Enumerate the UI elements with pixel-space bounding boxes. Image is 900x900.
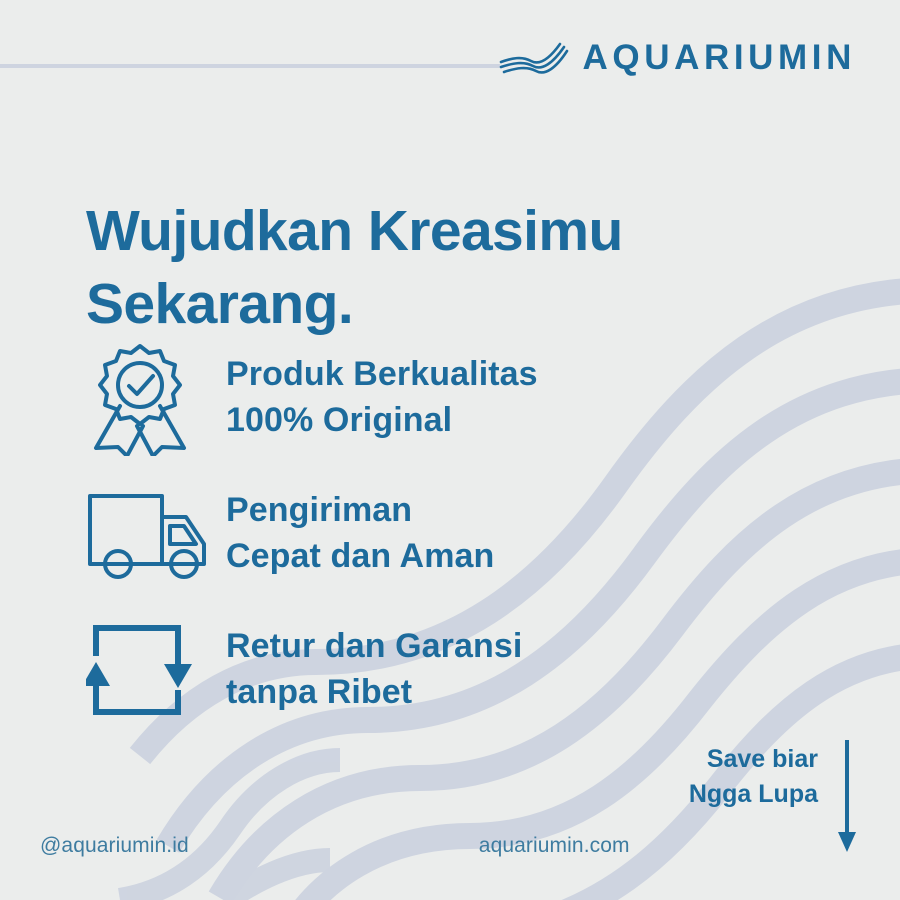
website-link[interactable]: aquariumin.com: [479, 834, 630, 858]
brand-lockup: AQUARIUMIN: [498, 36, 856, 78]
feature-line-2: 100% Original: [226, 398, 538, 444]
save-reminder-text: Save biar Ngga Lupa: [689, 740, 818, 811]
feature-item-quality: Produk Berkualitas 100% Original: [86, 330, 726, 466]
feature-text-quality: Produk Berkualitas 100% Original: [226, 352, 538, 444]
feature-line-1: Produk Berkualitas: [226, 352, 538, 398]
save-cue-line-1: Save biar: [689, 742, 818, 777]
top-divider-rule: [0, 64, 500, 68]
return-loop-arrows-icon: [86, 620, 226, 720]
feature-line-2: tanpa Ribet: [226, 670, 522, 716]
instagram-handle-link[interactable]: @aquariumin.id: [40, 834, 189, 858]
feature-line-1: Pengiriman: [226, 488, 494, 534]
wave-lines-icon: [498, 36, 570, 78]
award-badge-check-icon: [86, 340, 226, 456]
brand-name: AQUARIUMIN: [583, 40, 856, 75]
page-title: Wujudkan Kreasimu Sekarang.: [86, 195, 786, 340]
headline-line-1: Wujudkan Kreasimu: [86, 195, 786, 267]
feature-item-shipping: Pengiriman Cepat dan Aman: [86, 466, 726, 602]
feature-line-1: Retur dan Garansi: [226, 624, 522, 670]
feature-text-returns: Retur dan Garansi tanpa Ribet: [226, 624, 522, 716]
save-cue-line-2: Ngga Lupa: [689, 777, 818, 812]
promo-card: AQUARIUMIN Wujudkan Kreasimu Sekarang.: [0, 0, 900, 900]
feature-list: Produk Berkualitas 100% Original: [86, 330, 726, 738]
feature-text-shipping: Pengiriman Cepat dan Aman: [226, 488, 494, 580]
footer: @aquariumin.id aquariumin.com: [40, 834, 860, 858]
feature-line-2: Cepat dan Aman: [226, 534, 494, 580]
feature-item-returns: Retur dan Garansi tanpa Ribet: [86, 602, 726, 738]
delivery-truck-icon: [86, 488, 226, 580]
